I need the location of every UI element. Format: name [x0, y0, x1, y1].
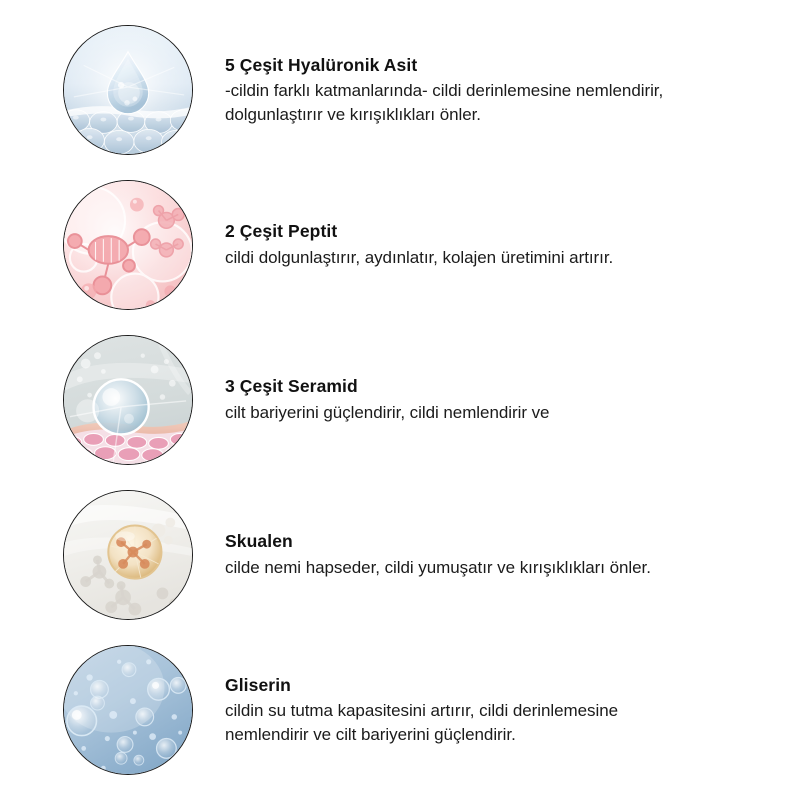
list-item: 3 Çeşit Seramid cilt bariyerini güçlendi… — [0, 335, 800, 465]
list-item: Skualen cilde nemi hapseder, cildi yumuş… — [0, 490, 800, 620]
ingredient-description: cilde nemi hapseder, cildi yumuşatır ve … — [225, 556, 705, 579]
ingredient-title: Skualen — [225, 530, 780, 554]
ingredient-title: Gliserin — [225, 674, 780, 698]
list-item: Gliserin cildin su tutma kapasitesini ar… — [0, 645, 800, 775]
glycerin-blue-bubbles-image — [63, 645, 193, 775]
ingredient-text-block: 2 Çeşit Peptit cildi dolgunlaştırır, ayd… — [193, 220, 800, 269]
ingredient-thumbnail-wrap — [63, 180, 193, 310]
ingredient-text-block: Gliserin cildin su tutma kapasitesini ar… — [193, 674, 800, 747]
ingredient-title: 3 Çeşit Seramid — [225, 375, 780, 399]
water-drop-over-cells-image — [63, 25, 193, 155]
ingredient-text-block: 3 Çeşit Seramid cilt bariyerini güçlendi… — [193, 375, 800, 424]
ingredient-text-block: 5 Çeşit Hyalüronik Asit -cildin farklı k… — [193, 54, 800, 127]
ingredient-thumbnail-wrap — [63, 335, 193, 465]
ingredient-text-block: Skualen cilde nemi hapseder, cildi yumuş… — [193, 530, 800, 579]
ingredient-description: -cildin farklı katmanlarında- cildi deri… — [225, 79, 705, 126]
pink-peptide-molecules-image — [63, 180, 193, 310]
ceramide-bubble-skin-layer-image — [63, 335, 193, 465]
ingredient-description: cilt bariyerini güçlendirir, cildi nemle… — [225, 401, 705, 424]
ingredient-list: 5 Çeşit Hyalüronik Asit -cildin farklı k… — [0, 0, 800, 800]
ingredient-thumbnail-wrap — [63, 25, 193, 155]
list-item: 2 Çeşit Peptit cildi dolgunlaştırır, ayd… — [0, 180, 800, 310]
ingredient-thumbnail-wrap — [63, 645, 193, 775]
ingredient-description: cildi dolgunlaştırır, aydınlatır, kolaje… — [225, 246, 705, 269]
ingredient-thumbnail-wrap — [63, 490, 193, 620]
list-item: 5 Çeşit Hyalüronik Asit -cildin farklı k… — [0, 25, 800, 155]
ingredient-title: 5 Çeşit Hyalüronik Asit — [225, 54, 780, 78]
ingredient-description: cildin su tutma kapasitesini artırır, ci… — [225, 699, 705, 746]
squalane-golden-droplet-image — [63, 490, 193, 620]
ingredient-title: 2 Çeşit Peptit — [225, 220, 780, 244]
